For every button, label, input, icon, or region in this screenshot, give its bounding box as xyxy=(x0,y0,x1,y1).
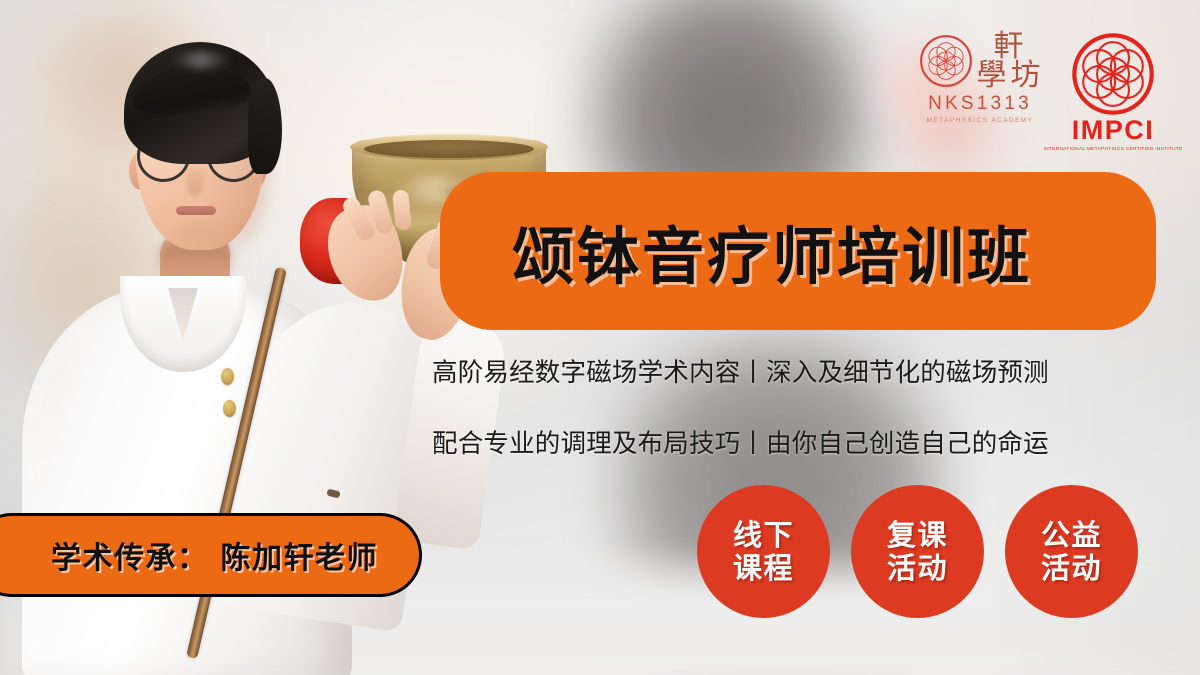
logo-group: 軒 學 坊 NKS1313 METAPHYSICS ACADEMY xyxy=(922,32,1172,151)
presenter-hair-highlight xyxy=(170,52,232,68)
badge-line-2: 活动 xyxy=(1041,552,1102,584)
impci-flower-of-life-icon xyxy=(1071,32,1155,116)
badge-line-1: 公益 xyxy=(1041,519,1102,551)
badge-line-2: 活动 xyxy=(887,552,948,584)
lineage-label: 学术传承： 陈加轩老师 xyxy=(51,533,378,577)
presenter-mouth xyxy=(176,206,216,215)
shirt-button-top xyxy=(221,368,234,385)
nks-chinese-characters: 軒 學 坊 xyxy=(977,32,1042,91)
badge-line-1: 线下 xyxy=(733,519,794,551)
page-title: 颂钵音疗师培训班 xyxy=(512,206,1032,296)
nks-char-fang: 坊 xyxy=(1011,61,1042,90)
description-line-2: 配合专业的调理及布局技巧丨由你自己创造自己的命运 xyxy=(432,423,1132,460)
poster-canvas: 軒 學 坊 NKS1313 METAPHYSICS ACADEMY xyxy=(0,0,1200,675)
impci-logo: IMPCI INTERNATIONAL METAPHYSICS CERTIFIE… xyxy=(1054,32,1172,151)
badge-line-2: 课程 xyxy=(733,552,794,584)
badge-group: 线下 课程 复课 活动 公益 活动 xyxy=(697,485,1138,618)
singing-bowl-interior xyxy=(364,140,534,158)
nks-char-line-1: 軒 xyxy=(994,32,1025,61)
badge-offline-course[interactable]: 线下 课程 xyxy=(697,485,830,618)
nks-char-xuan: 軒 xyxy=(994,32,1025,61)
shirt-button-bottom xyxy=(223,400,236,417)
title-banner: 颂钵音疗师培训班 xyxy=(440,172,1156,330)
description-block: 高阶易经数字磁场学术内容丨深入及细节化的磁场预测 配合专业的调理及布局技巧丨由你… xyxy=(432,352,1132,494)
nks-char-line-2: 學 坊 xyxy=(977,61,1042,90)
lineage-pill: 学术传承： 陈加轩老师 xyxy=(0,513,422,597)
badge-charity-event[interactable]: 公益 活动 xyxy=(1005,485,1138,618)
presenter-hair-side xyxy=(248,78,282,174)
flower-of-life-icon xyxy=(919,34,973,88)
impci-wordmark: IMPCI xyxy=(1072,117,1155,144)
nks-wordmark: NKS1313 xyxy=(928,93,1032,115)
impci-tagline: INTERNATIONAL METAPHYSICS CERTIFIED INST… xyxy=(1043,146,1182,151)
presenter-nose xyxy=(186,160,204,196)
nks-char-xue: 學 xyxy=(977,61,1008,90)
badge-review-class[interactable]: 复课 活动 xyxy=(851,485,984,618)
description-line-1: 高阶易经数字磁场学术内容丨深入及细节化的磁场预测 xyxy=(432,352,1132,389)
nks-tagline: METAPHYSICS ACADEMY xyxy=(927,117,1034,124)
nks-logo: 軒 學 坊 NKS1313 METAPHYSICS ACADEMY xyxy=(922,32,1038,124)
presenter-chin-shadow xyxy=(164,220,228,242)
nks-logo-top: 軒 學 坊 xyxy=(919,32,1042,91)
badge-line-1: 复课 xyxy=(887,519,948,551)
